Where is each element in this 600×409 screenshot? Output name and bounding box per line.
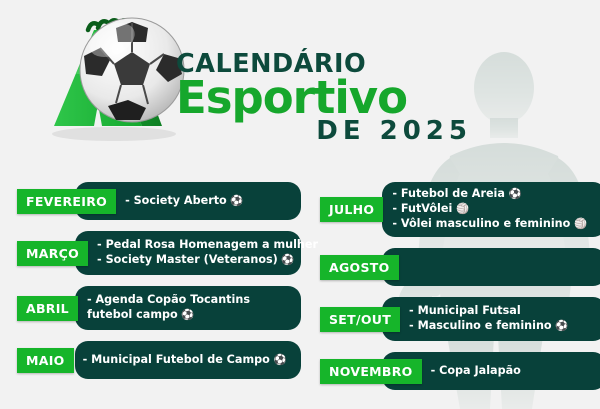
month-events: - Society Aberto ⚽ xyxy=(125,194,243,209)
event-text: futebol campo xyxy=(87,308,178,321)
volleyball-icon: 🏐 xyxy=(452,203,469,215)
event-line: - Agenda Copão Tocantins xyxy=(87,293,250,308)
month-badge-maio[interactable]: MAIO xyxy=(17,348,74,373)
month-column-right: JULHO- Futebol de Areia ⚽- FutVôlei 🏐- V… xyxy=(320,182,592,401)
event-line: - Copa Jalapão xyxy=(431,364,521,379)
month-events: - Copa Jalapão xyxy=(431,364,521,379)
month-row[interactable]: SET/OUT- Municipal Futsal- Masculino e f… xyxy=(320,297,592,341)
month-events: - Municipal Futsal- Masculino e feminino… xyxy=(409,304,568,334)
month-badge-julho[interactable]: JULHO xyxy=(320,197,383,222)
event-line: - Municipal Futebol de Campo ⚽ xyxy=(83,353,287,368)
month-row[interactable]: ABRIL- Agenda Copão Tocantinsfutebol cam… xyxy=(17,286,289,330)
month-events: - Municipal Futebol de Campo ⚽ xyxy=(83,353,287,368)
soccer-ball-icon: ⚽ xyxy=(552,320,569,332)
event-text: - Agenda Copão Tocantins xyxy=(87,293,250,306)
event-line: - FutVôlei 🏐 xyxy=(392,202,587,217)
month-badge-mar-o[interactable]: MARÇO xyxy=(17,241,88,266)
page-header: CALENDÁRIO Esportivo DE 2025 xyxy=(0,0,600,160)
soccer-ball-icon: ⚽ xyxy=(278,254,295,266)
page-title: CALENDÁRIO Esportivo DE 2025 xyxy=(176,52,476,144)
month-events: - Agenda Copão Tocantinsfutebol campo ⚽ xyxy=(87,293,250,323)
month-badge-agosto[interactable]: AGOSTO xyxy=(320,255,399,280)
volleyball-icon: 🏐 xyxy=(570,218,587,230)
soccer-ball-icon: ⚽ xyxy=(505,188,522,200)
calendar-soccer-ball-logo xyxy=(36,8,186,148)
month-column-left: FEVEREIRO- Society Aberto ⚽MARÇO- Pedal … xyxy=(17,182,289,390)
soccer-ball-icon: ⚽ xyxy=(270,354,287,366)
event-text: - Masculino e feminino xyxy=(409,319,552,332)
event-line: - Masculino e feminino ⚽ xyxy=(409,319,568,334)
event-text: - Society Aberto xyxy=(125,194,227,207)
event-line: - Futebol de Areia ⚽ xyxy=(392,187,587,202)
event-line: futebol campo ⚽ xyxy=(87,308,250,323)
month-badge-abril[interactable]: ABRIL xyxy=(17,296,78,321)
event-text: - Society Master (Veteranos) xyxy=(97,253,278,266)
month-badge-novembro[interactable]: NOVEMBRO xyxy=(320,359,422,384)
event-line: - Society Aberto ⚽ xyxy=(125,194,243,209)
event-text: - Municipal Futsal xyxy=(409,304,521,317)
month-badge-fevereiro[interactable]: FEVEREIRO xyxy=(17,189,116,214)
month-badge-set-out[interactable]: SET/OUT xyxy=(320,307,400,332)
event-text: - Futebol de Areia xyxy=(392,187,505,200)
event-line: - Municipal Futsal xyxy=(409,304,568,319)
soccer-ball-icon: ⚽ xyxy=(227,195,244,207)
month-row[interactable]: NOVEMBRO- Copa Jalapão xyxy=(320,352,592,390)
soccer-ball-icon: ⚽ xyxy=(178,309,195,321)
month-row[interactable]: MAIO- Municipal Futebol de Campo ⚽ xyxy=(17,341,289,379)
title-esportivo: Esportivo xyxy=(176,75,476,120)
month-card-panel xyxy=(382,248,600,286)
month-row[interactable]: MARÇO- Pedal Rosa Homenagem a mulher- So… xyxy=(17,231,289,275)
month-row[interactable]: AGOSTO xyxy=(320,248,592,286)
month-events: - Pedal Rosa Homenagem a mulher- Society… xyxy=(97,238,318,268)
event-text: - Municipal Futebol de Campo xyxy=(83,353,270,366)
month-row[interactable]: JULHO- Futebol de Areia ⚽- FutVôlei 🏐- V… xyxy=(320,182,592,237)
event-text: - Pedal Rosa Homenagem a mulher xyxy=(97,238,318,251)
event-text: - FutVôlei xyxy=(392,202,452,215)
event-line: - Pedal Rosa Homenagem a mulher xyxy=(97,238,318,253)
month-events: - Futebol de Areia ⚽- FutVôlei 🏐- Vôlei … xyxy=(392,187,587,232)
month-row[interactable]: FEVEREIRO- Society Aberto ⚽ xyxy=(17,182,289,220)
event-line: - Society Master (Veteranos) ⚽ xyxy=(97,253,318,268)
event-text: - Copa Jalapão xyxy=(431,364,521,377)
event-line: - Vôlei masculino e feminino 🏐 xyxy=(392,217,587,232)
event-text: - Vôlei masculino e feminino xyxy=(392,217,570,230)
